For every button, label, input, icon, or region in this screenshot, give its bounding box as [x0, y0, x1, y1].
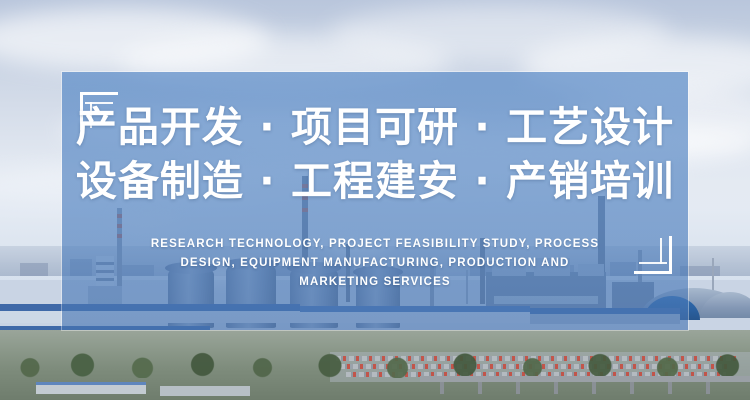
headline: 产品开发 · 项目可研 · 工艺设计 设备制造 · 工程建安 · 产销培训 — [62, 100, 688, 208]
headline-line-1: 产品开发 · 项目可研 · 工艺设计 — [62, 100, 688, 154]
subtitle-line-1: RESEARCH TECHNOLOGY, PROJECT FEASIBILITY… — [114, 235, 636, 254]
treeline — [0, 352, 750, 378]
foreground-building — [160, 386, 250, 396]
subtitle: RESEARCH TECHNOLOGY, PROJECT FEASIBILITY… — [114, 235, 636, 292]
viaduct-deck — [420, 376, 750, 382]
text-overlay-panel: 产品开发 · 项目可研 · 工艺设计 设备制造 · 工程建安 · 产销培训 RE… — [62, 72, 688, 330]
subtitle-line-3: MARKETING SERVICES — [114, 273, 636, 292]
subtitle-line-2: DESIGN, EQUIPMENT MANUFACTURING, PRODUCT… — [114, 254, 636, 273]
headline-line-2: 设备制造 · 工程建安 · 产销培训 — [62, 154, 688, 208]
corner-bracket-bottom-right-icon — [634, 236, 672, 274]
industrial-banner: 产品开发 · 项目可研 · 工艺设计 设备制造 · 工程建安 · 产销培训 RE… — [0, 0, 750, 400]
